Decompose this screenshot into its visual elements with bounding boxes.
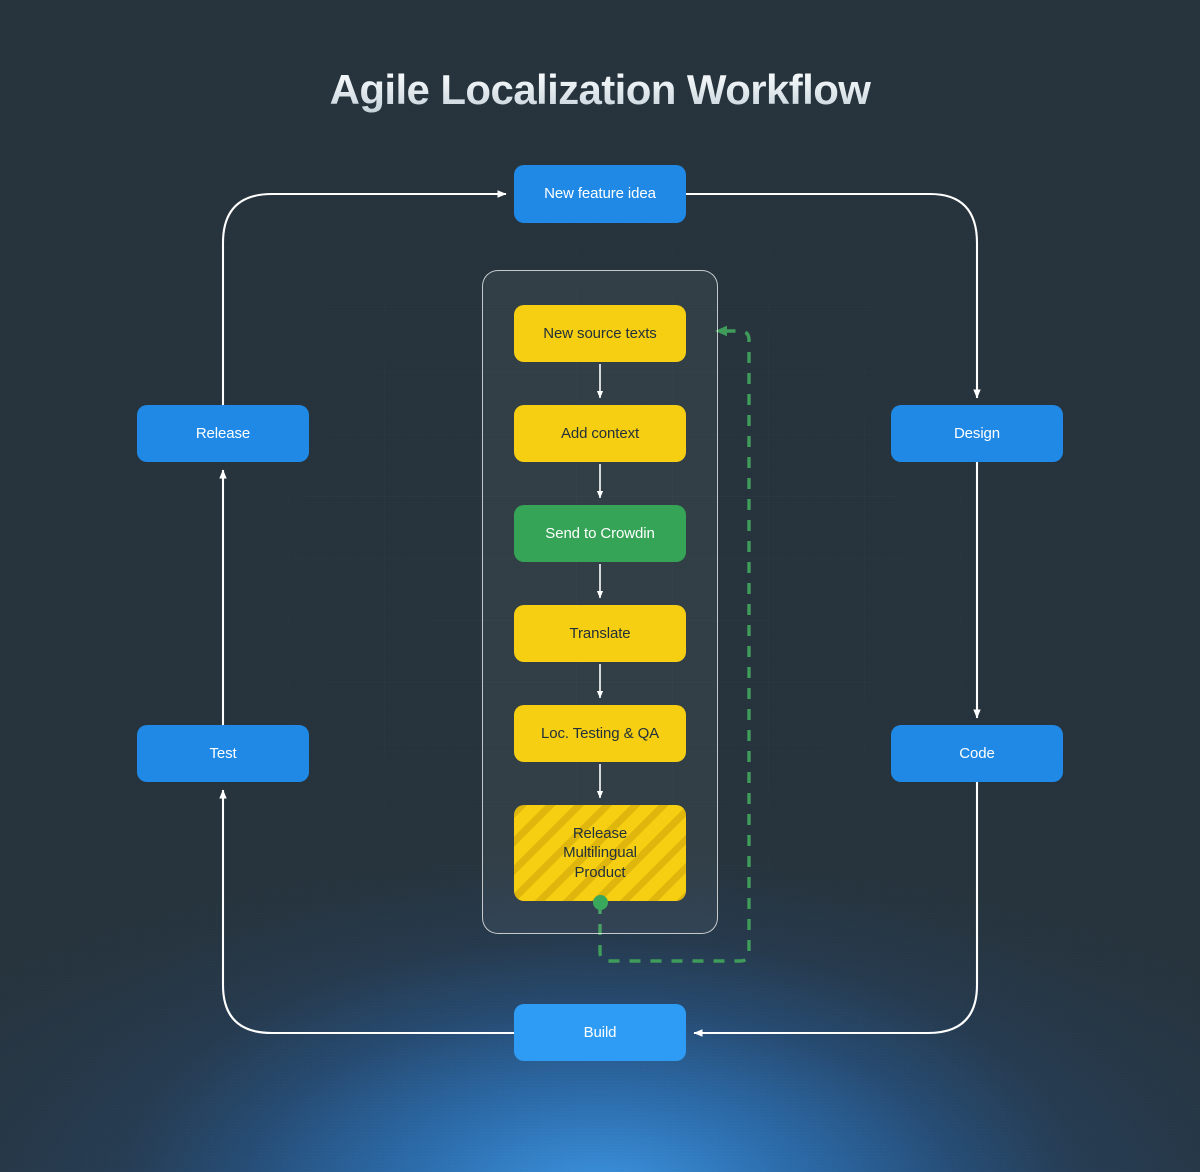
node-label: New feature idea (544, 184, 656, 203)
node-label: Test (209, 744, 236, 763)
node-add-context[interactable]: Add context (514, 405, 686, 462)
node-label: Release (196, 424, 250, 443)
node-release[interactable]: Release (137, 405, 309, 462)
edge-code-to-build (694, 782, 977, 1033)
node-label: Build (584, 1023, 617, 1042)
node-label-line-1: Release (573, 824, 627, 843)
node-label: New source texts (543, 324, 656, 343)
node-loc-testing-and-qa[interactable]: Loc. Testing & QA (514, 705, 686, 762)
edge-release-to-idea (223, 194, 506, 405)
edge-build-to-test (223, 790, 514, 1033)
node-label: Design (954, 424, 1000, 443)
node-build[interactable]: Build (514, 1004, 686, 1061)
node-translate[interactable]: Translate (514, 605, 686, 662)
node-label-line-3: Product (575, 863, 626, 882)
node-new-source-texts[interactable]: New source texts (514, 305, 686, 362)
node-new-feature-idea[interactable]: New feature idea (514, 165, 686, 223)
node-code[interactable]: Code (891, 725, 1063, 782)
node-test[interactable]: Test (137, 725, 309, 782)
node-release-multilingual-product[interactable]: Release Multilingual Product (514, 805, 686, 901)
node-send-to-crowdin[interactable]: Send to Crowdin (514, 505, 686, 562)
node-label: Code (959, 744, 994, 763)
feedback-loop-origin-dot (593, 895, 608, 910)
node-label: Add context (561, 424, 639, 443)
node-label: Loc. Testing & QA (541, 724, 659, 743)
node-label-line-2: Multilingual (563, 843, 637, 862)
node-design[interactable]: Design (891, 405, 1063, 462)
edge-idea-to-design (686, 194, 977, 398)
node-label: Translate (569, 624, 630, 643)
node-label: Send to Crowdin (545, 524, 654, 543)
